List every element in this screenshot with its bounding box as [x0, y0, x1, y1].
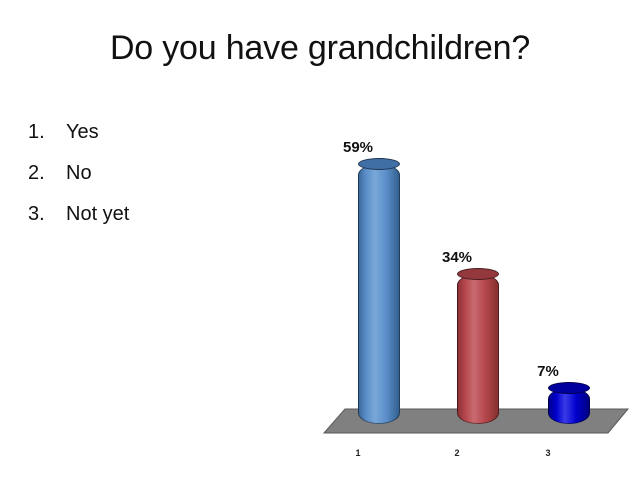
answer-options-list: 1. Yes 2. No 3. Not yet — [28, 112, 278, 235]
bar-chart: 59% 1 34% 2 7% 3 — [300, 110, 640, 470]
list-item-label: Not yet — [66, 194, 278, 235]
list-item: 1. Yes — [28, 112, 278, 153]
bar-cylinder-2 — [457, 274, 499, 424]
bar-value-label: 59% — [343, 139, 373, 156]
bar-cylinder-3 — [548, 388, 590, 424]
list-item-label: Yes — [66, 112, 278, 153]
bar-value-label: 7% — [537, 363, 559, 380]
list-item-number: 1. — [28, 112, 66, 153]
bar-category-label: 2 — [454, 448, 459, 458]
bar-value-label: 34% — [442, 249, 472, 266]
bar-category-label: 1 — [355, 448, 360, 458]
bar-cylinder-1 — [358, 164, 400, 424]
page-title: Do you have grandchildren? — [0, 26, 640, 70]
list-item-number: 2. — [28, 153, 66, 194]
list-item-number: 3. — [28, 194, 66, 235]
list-item: 2. No — [28, 153, 278, 194]
list-item-label: No — [66, 153, 278, 194]
slide-canvas: Do you have grandchildren? 1. Yes 2. No … — [0, 0, 640, 479]
list-item: 3. Not yet — [28, 194, 278, 235]
bar-category-label: 3 — [545, 448, 550, 458]
